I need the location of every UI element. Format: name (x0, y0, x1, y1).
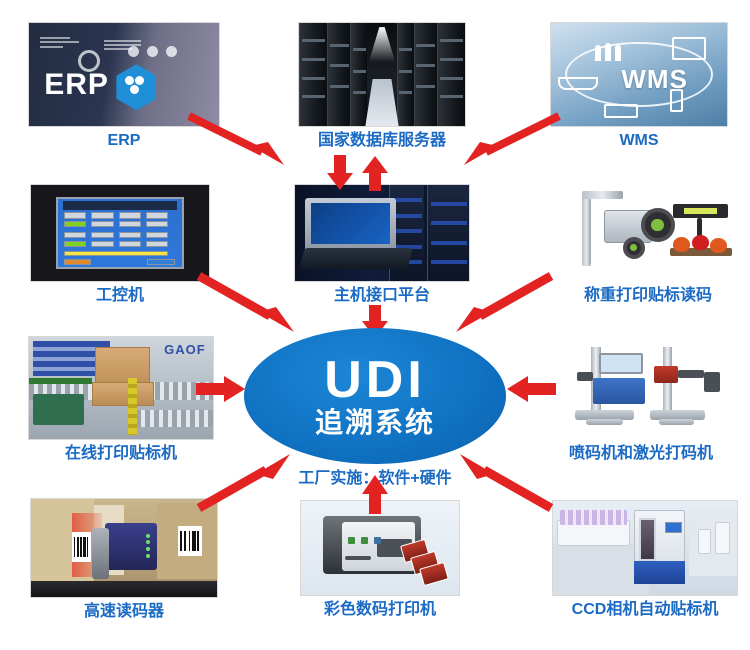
node-label-ipc: 工控机 (30, 287, 210, 305)
node-national-db[interactable]: 国家数据库服务器 (298, 22, 466, 150)
node-label-weigh-label: 称重打印贴标读码 (556, 287, 740, 305)
node-color-printer[interactable]: 彩色数码打印机 (300, 500, 460, 619)
node-label-fast-reader: 高速读码器 (30, 603, 218, 621)
arrow-ipc-to-udi (196, 272, 304, 338)
data-center-server-room-photo (298, 22, 466, 127)
node-label-wms: WMS (550, 132, 728, 150)
arrow-weighlabel-to-udi (446, 272, 554, 338)
arrow-inlinelabeler-to-udi (196, 375, 246, 403)
node-label-inline-labeler: 在线打印贴标机 (28, 445, 214, 463)
udi-subtitle: 追溯系统 (315, 408, 435, 439)
rack-console-server-photo (294, 184, 470, 282)
node-fast-reader[interactable]: 高速读码器 (30, 498, 218, 621)
udi-title: UDI (324, 354, 426, 406)
wms-logistics-network-photo: WMS (550, 22, 728, 127)
arrow-platform-to-nationaldb (362, 155, 388, 191)
udi-caption: 工厂实施：软件+硬件 (244, 464, 506, 488)
node-label-national-db: 国家数据库服务器 (298, 132, 466, 150)
node-label-color-printer: 彩色数码打印机 (300, 601, 460, 619)
color-digital-label-printer-photo (300, 500, 460, 596)
udi-center-node[interactable]: UDI 追溯系统 (244, 328, 506, 464)
node-coders[interactable]: 喷码机和激光打码机 (548, 336, 734, 463)
arrow-coders-to-udi (506, 375, 556, 403)
arrow-wms-to-platform (452, 112, 562, 170)
node-label-coders: 喷码机和激光打码机 (548, 445, 734, 463)
arrow-nationaldb-to-platform (327, 155, 353, 191)
node-inline-labeler[interactable]: GAOF 在线打印贴标机 (28, 336, 214, 463)
ccd-camera-auto-labeling-machine-photo (552, 500, 738, 596)
industrial-hmi-touch-panel-photo (30, 184, 210, 282)
node-ipc[interactable]: 工控机 (30, 184, 210, 305)
inkjet-and-laser-coder-photo (548, 336, 734, 440)
conveyor-print-apply-labeler-photo: GAOF (28, 336, 214, 440)
node-label-ccd-labeler: CCD相机自动贴标机 (552, 601, 738, 619)
node-label-host-platform: 主机接口平台 (294, 287, 470, 305)
node-ccd-labeler[interactable]: CCD相机自动贴标机 (552, 500, 738, 619)
arrow-erp-to-platform (186, 112, 296, 170)
datalogic-fixed-barcode-scanner-photo (30, 498, 218, 598)
node-wms[interactable]: WMS WMS (550, 22, 728, 150)
diagram-canvas: ERP ERP 国家数据库服务器 (0, 0, 750, 650)
node-host-platform[interactable]: 主机接口平台 (294, 184, 470, 305)
weigh-print-label-scanner-photo (556, 184, 740, 282)
node-weigh-label[interactable]: 称重打印贴标读码 (556, 184, 740, 305)
